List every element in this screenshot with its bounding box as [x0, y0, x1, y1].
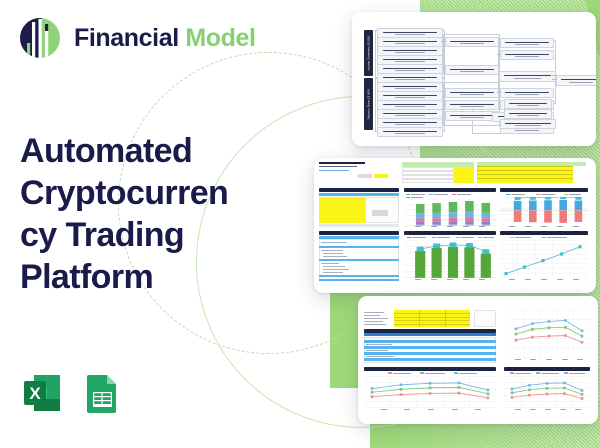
legend-swatch [478, 237, 482, 238]
grid-line [477, 174, 573, 175]
legend-label [569, 194, 581, 195]
table-text [364, 312, 384, 313]
legend-swatch [542, 237, 546, 238]
table-text [323, 266, 345, 267]
panel-header-ebitda [504, 367, 590, 371]
flow-connector [497, 92, 501, 93]
panel-header-gross-margin [364, 367, 496, 371]
table-row [364, 358, 496, 361]
flow-node-current-ratio [504, 109, 552, 119]
chart-gross-margin-comparison [364, 376, 496, 408]
legend-label [483, 237, 494, 238]
input-panel-header-c [499, 162, 541, 166]
panel-header-investment-payback [500, 231, 588, 235]
dashboard-sheet [314, 158, 596, 293]
flow-node-gross-margin [500, 38, 554, 48]
legend-swatch [536, 372, 540, 373]
table-text [366, 356, 394, 357]
legend-label [411, 194, 425, 195]
x-axis-ticks [504, 279, 584, 280]
legend-swatch [564, 372, 568, 373]
legend-swatch [432, 237, 436, 238]
x-axis-ticks [504, 226, 584, 227]
flow-node-revenue-2 [445, 65, 499, 75]
x-axis-ticks [410, 226, 490, 227]
x-axis-ticks [372, 409, 490, 410]
legend-label [437, 237, 450, 238]
grid-line [445, 310, 446, 327]
table-section-row [319, 275, 399, 277]
table-text [323, 269, 349, 270]
input-panel-header-d [544, 162, 586, 166]
legend-swatch [420, 372, 424, 373]
legend-swatch [406, 197, 410, 198]
legend-label [541, 373, 559, 374]
legend-label [459, 373, 477, 374]
table-section-row [319, 246, 399, 248]
legend-label [412, 237, 426, 238]
panel-header-cash-flow [404, 231, 496, 235]
legend-swatch [454, 372, 458, 373]
legend-swatch [406, 194, 410, 195]
x-axis-ticks [410, 279, 490, 280]
dashboard-button-gray[interactable] [358, 174, 372, 178]
legend-label [569, 373, 585, 374]
dupont-flowchart: Income Statement ($ 000) Balance Sheet (… [352, 12, 596, 146]
panel-header-profitability [500, 188, 588, 192]
table-text [323, 253, 343, 254]
google-sheets-icon[interactable] [80, 371, 124, 415]
table-text [321, 263, 339, 264]
flow-connector [552, 79, 557, 80]
page-title-line-2: Cryptocurren [20, 172, 270, 214]
statements-sheet [358, 296, 598, 424]
legend-swatch [564, 194, 568, 195]
flow-node-total-liabilities [445, 111, 499, 121]
table-text [366, 344, 392, 345]
flow-node-roe [556, 75, 596, 86]
table-text [364, 315, 380, 316]
legend-label [541, 194, 555, 195]
legend-swatch [407, 237, 411, 238]
table-text [364, 321, 383, 322]
flow-node-net-profit-margin [500, 50, 554, 60]
legend-swatch [536, 194, 540, 195]
svg-text:X: X [29, 384, 41, 403]
table-section-row [319, 279, 399, 281]
legend-label [515, 373, 531, 374]
financial-dashboard-card[interactable] [314, 158, 596, 293]
table-row [364, 352, 496, 355]
flow-connector [441, 41, 445, 42]
flow-node-roa [499, 71, 556, 82]
rail-income-statement: Income Statement ($ 000) [364, 30, 373, 76]
input-row[interactable] [402, 179, 454, 183]
input-cell[interactable] [454, 179, 474, 183]
legend-swatch [510, 237, 514, 238]
legend-label [515, 237, 531, 238]
dashboard-input-yellow[interactable] [374, 174, 388, 178]
legend-label [393, 373, 411, 374]
chart-revenue-comparison [508, 310, 590, 358]
table-section-row [319, 259, 399, 261]
file-format-icons: X [20, 371, 124, 415]
brand-logo: Financial Model [18, 16, 256, 60]
legend-label [457, 194, 471, 195]
flow-node-equity [377, 127, 443, 137]
legend-swatch [510, 372, 514, 373]
legend-label [547, 237, 567, 238]
flow-node-total-assets [445, 100, 499, 110]
table-text [323, 272, 343, 273]
legend-label [511, 194, 525, 195]
chart-investment-payback [500, 240, 588, 278]
legend-label [461, 237, 474, 238]
table-total-row [319, 224, 399, 227]
legend-label [411, 197, 423, 198]
table-text [321, 250, 343, 251]
dupont-analysis-flowchart-card[interactable]: Income Statement ($ 000) Balance Sheet (… [352, 12, 596, 146]
flow-node-net-income [445, 37, 499, 47]
dashboard-title [319, 162, 365, 164]
dashboard-subtitle [319, 166, 357, 167]
grid-line [394, 324, 470, 325]
chart-profitability [500, 197, 588, 226]
brand-name-part-2: Model [185, 24, 255, 52]
legend-label [425, 373, 445, 374]
legend-swatch [388, 372, 392, 373]
x-axis-ticks [510, 409, 586, 410]
table-text [364, 318, 388, 319]
table-text [323, 256, 347, 257]
grid-line [394, 313, 470, 314]
page-title-line-1: Automated [20, 130, 270, 172]
table-body-yellow[interactable] [319, 197, 365, 223]
legend-swatch [506, 194, 510, 195]
flow-node-financial-leverage-multiplier [500, 119, 556, 129]
table-row [364, 340, 496, 343]
x-axis-ticks [510, 359, 588, 360]
page-title-line-4: Platform [20, 256, 270, 298]
chart-cash-flow [404, 240, 496, 278]
table-text [366, 350, 388, 351]
flow-connector [552, 75, 557, 76]
page-title-line-3: cy Trading [20, 214, 270, 256]
legend-swatch [452, 194, 456, 195]
panel-header-revenue-streams [404, 188, 496, 192]
table-text [364, 324, 386, 325]
flow-node-leverage [504, 99, 552, 109]
table-cell-gray [372, 210, 388, 216]
dashboard-caption [319, 170, 349, 171]
grid-line [477, 170, 573, 171]
legend-swatch [456, 237, 460, 238]
flow-connector [497, 54, 501, 55]
microsoft-excel-icon[interactable]: X [20, 371, 64, 415]
brand-name-part-1: Financial [74, 24, 185, 52]
grid-line [419, 310, 420, 327]
grid-line [477, 178, 573, 179]
page-title: Automated Cryptocurren cy Trading Platfo… [20, 130, 270, 298]
table-text [321, 242, 347, 243]
flow-node-total-asset-turnover [500, 88, 554, 98]
grid-line [394, 317, 470, 318]
table-cells[interactable] [474, 310, 496, 327]
grid-line [394, 320, 470, 321]
legend-label [434, 194, 448, 195]
flow-node-revenue-3 [445, 88, 499, 98]
grid-line [477, 166, 573, 167]
legend-swatch [429, 194, 433, 195]
circular-bar-chart-logo-icon [18, 16, 62, 60]
brand-name: Financial Model [74, 24, 256, 53]
chart-ebitda-comparison [504, 376, 590, 408]
financial-statements-card[interactable] [358, 296, 598, 424]
rail-balance-sheet: Balance Sheet ($ 000) [364, 78, 373, 130]
slide-canvas: Financial Model Automated Cryptocurren c… [0, 0, 600, 448]
table-row [364, 346, 496, 349]
chart-top-5-revenue-streams [404, 199, 496, 226]
